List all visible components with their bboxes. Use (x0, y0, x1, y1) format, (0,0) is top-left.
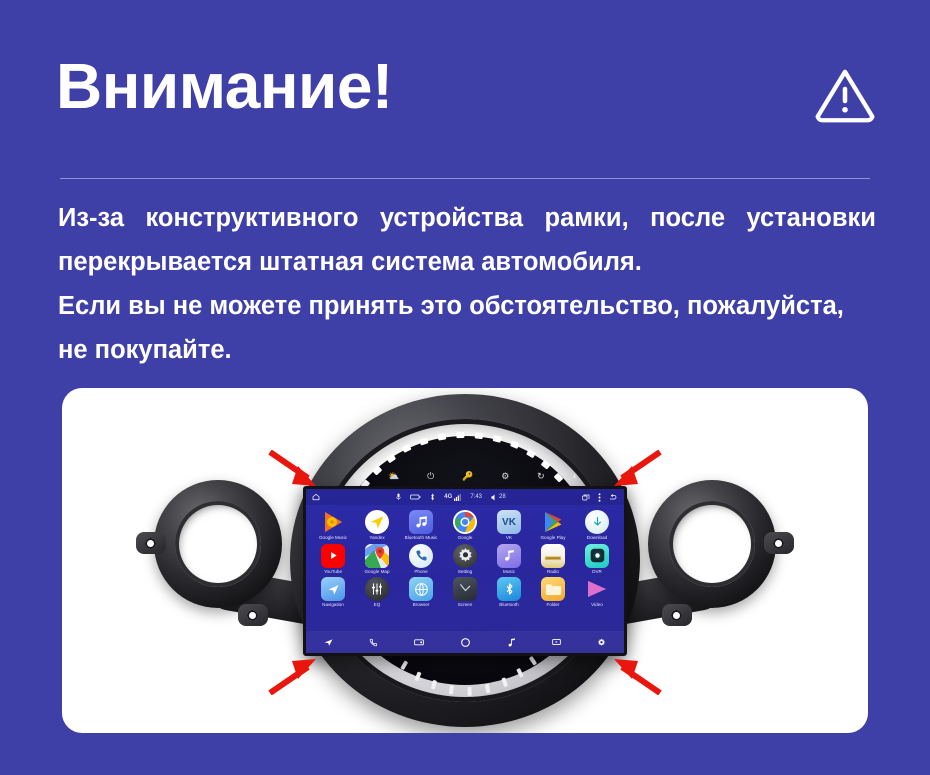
app-google-play[interactable]: Google Play (531, 510, 575, 541)
android-head-unit-screen[interactable]: 4G 7:43 (303, 486, 627, 656)
copy-word: Из-за (58, 196, 124, 240)
warning-triangle-icon (812, 62, 878, 128)
mounting-tab (136, 532, 166, 554)
power-icon: ⏻ (427, 471, 434, 482)
signal-bars-icon (454, 494, 461, 501)
app-google[interactable]: Google (443, 510, 487, 541)
radio-icon (541, 544, 565, 568)
warning-text-line-3: Если вы не можете принять это обстоятель… (58, 284, 876, 328)
more-vertical-icon[interactable] (598, 493, 601, 502)
video-play-icon (585, 577, 609, 601)
app-setting[interactable]: Setting (443, 544, 487, 575)
app-label: Music (503, 570, 515, 575)
dock-navigation-arrow-icon[interactable] (324, 638, 333, 647)
app-label: DVR (592, 570, 602, 575)
app-label: VK (506, 536, 512, 541)
app-label: YouTube (324, 570, 342, 575)
app-download[interactable]: Download (575, 510, 619, 541)
status-bar: 4G 7:43 (306, 489, 624, 505)
dock-music-note-icon[interactable] (508, 638, 516, 647)
app-phone[interactable]: Phone (399, 544, 443, 575)
warning-text-block: Из-за конструктивного устройства рамки, … (58, 196, 876, 372)
music-note-icon (497, 544, 521, 568)
dock-bar (306, 631, 624, 653)
app-label: Radio (547, 570, 559, 575)
copy-word: после (650, 196, 725, 240)
app-label: Browser (413, 603, 430, 608)
volume-icon (491, 494, 497, 501)
app-label: Bluetooth (499, 603, 518, 608)
warning-text-line-4: не покупайте. (58, 328, 876, 372)
youtube-icon (321, 544, 345, 568)
dock-phone-icon[interactable] (369, 638, 378, 647)
vk-icon: VK (497, 510, 521, 534)
app-label: Google (458, 536, 473, 541)
fog-light-icon: ☼ (352, 471, 360, 481)
dvr-camera-icon (585, 544, 609, 568)
app-eq[interactable]: EQ (355, 577, 399, 608)
clock-screen-icon (453, 577, 477, 601)
home-icon[interactable] (312, 493, 320, 501)
volume-level: 28 (499, 494, 506, 500)
folder-icon (541, 577, 565, 601)
download-icon (585, 510, 609, 534)
recirculate-icon: ↻ (537, 471, 545, 482)
network-indicator: 4G (444, 494, 461, 501)
phone-icon (409, 544, 433, 568)
header-divider (60, 178, 870, 179)
app-label: Google Music (319, 536, 347, 541)
copy-word: установки (746, 196, 876, 240)
mic-icon[interactable] (396, 493, 401, 501)
app-google-map[interactable]: Google Map (355, 544, 399, 575)
bluetooth-icon (497, 577, 521, 601)
app-label: Google Map (364, 570, 389, 575)
google-map-icon (365, 544, 389, 568)
defrost-icon: ⛅ (388, 471, 399, 482)
warning-text-line-2: перекрывается штатная система автомобиля… (58, 240, 876, 284)
back-icon[interactable] (609, 494, 618, 501)
equalizer-icon (365, 577, 389, 601)
dock-radio-icon[interactable] (414, 638, 424, 646)
app-navigation[interactable]: Navigation (311, 577, 355, 608)
app-browser[interactable]: Browser (399, 577, 443, 608)
network-label: 4G (444, 494, 452, 500)
app-label: Navigation (322, 603, 344, 608)
google-play-icon (541, 510, 565, 534)
app-grid: Google Music Yandex (306, 505, 624, 608)
globe-icon (409, 577, 433, 601)
app-bluetooth[interactable]: Bluetooth (487, 577, 531, 608)
app-folder[interactable]: Folder (531, 577, 575, 608)
app-label: Google Play (540, 536, 565, 541)
mounting-tab (662, 604, 692, 626)
warning-text-line-1: Из-за конструктивного устройства рамки, … (58, 196, 876, 240)
google-music-icon (321, 510, 345, 534)
mounting-tab (238, 604, 268, 626)
gear-icon (453, 544, 477, 568)
product-photo: ☼ ⛅ ⏻ 🔑 ⚙ ↻ ◐ (62, 388, 868, 733)
center-head-unit: ☼ ⛅ ⏻ 🔑 ⚙ ↻ ◐ (290, 394, 640, 727)
page-title: Внимание! (56, 54, 393, 118)
recents-icon[interactable] (582, 494, 590, 501)
app-youtube[interactable]: YouTube (311, 544, 355, 575)
app-label: Screen (458, 603, 473, 608)
copy-word: рамки, (545, 196, 629, 240)
app-label: Folder (546, 603, 559, 608)
bluetooth-icon[interactable] (430, 493, 435, 501)
app-label: Bluetooth Music (405, 536, 438, 541)
app-video[interactable]: Video (575, 577, 619, 608)
app-yandex[interactable]: Yandex (355, 510, 399, 541)
headlight-icon: ◐ (573, 471, 578, 481)
app-label: Yandex (369, 536, 384, 541)
volume-indicator[interactable]: 28 (491, 494, 506, 501)
app-label: Phone (414, 570, 427, 575)
clock-time: 7:43 (470, 494, 482, 500)
app-label: Download (587, 536, 607, 541)
warning-slide: Внимание! Из-за конструктивного устройст… (0, 0, 930, 775)
mounting-tab (764, 532, 794, 554)
app-bluetooth-music[interactable]: Bluetooth Music (399, 510, 443, 541)
engine-icon: ⚙ (501, 471, 509, 482)
app-screen[interactable]: Screen (443, 577, 487, 608)
yandex-icon (365, 510, 389, 534)
app-dvr[interactable]: DVR (575, 544, 619, 575)
key-icon: 🔑 (462, 471, 473, 482)
copy-word: конструктивного (145, 196, 358, 240)
dock-video-icon[interactable] (552, 638, 561, 646)
app-music[interactable]: Music (487, 544, 531, 575)
bluetooth-music-icon (409, 510, 433, 534)
right-vent-ring (648, 480, 776, 608)
app-vk[interactable]: VK VK (487, 510, 531, 541)
product-image-card: ☼ ⛅ ⏻ 🔑 ⚙ ↻ ◐ (62, 388, 868, 733)
app-label: EQ (374, 603, 381, 608)
navigation-arrow-icon (321, 577, 345, 601)
battery-icon (410, 494, 421, 500)
app-radio[interactable]: Radio (531, 544, 575, 575)
copy-word: устройства (380, 196, 523, 240)
dock-gear-icon[interactable] (597, 638, 606, 647)
app-label: Setting (458, 570, 472, 575)
chrome-icon (453, 510, 477, 534)
left-vent-ring (154, 480, 282, 608)
app-google-music[interactable]: Google Music (311, 510, 355, 541)
dock-home-circle-icon[interactable] (460, 637, 471, 648)
app-label: Video (591, 603, 603, 608)
